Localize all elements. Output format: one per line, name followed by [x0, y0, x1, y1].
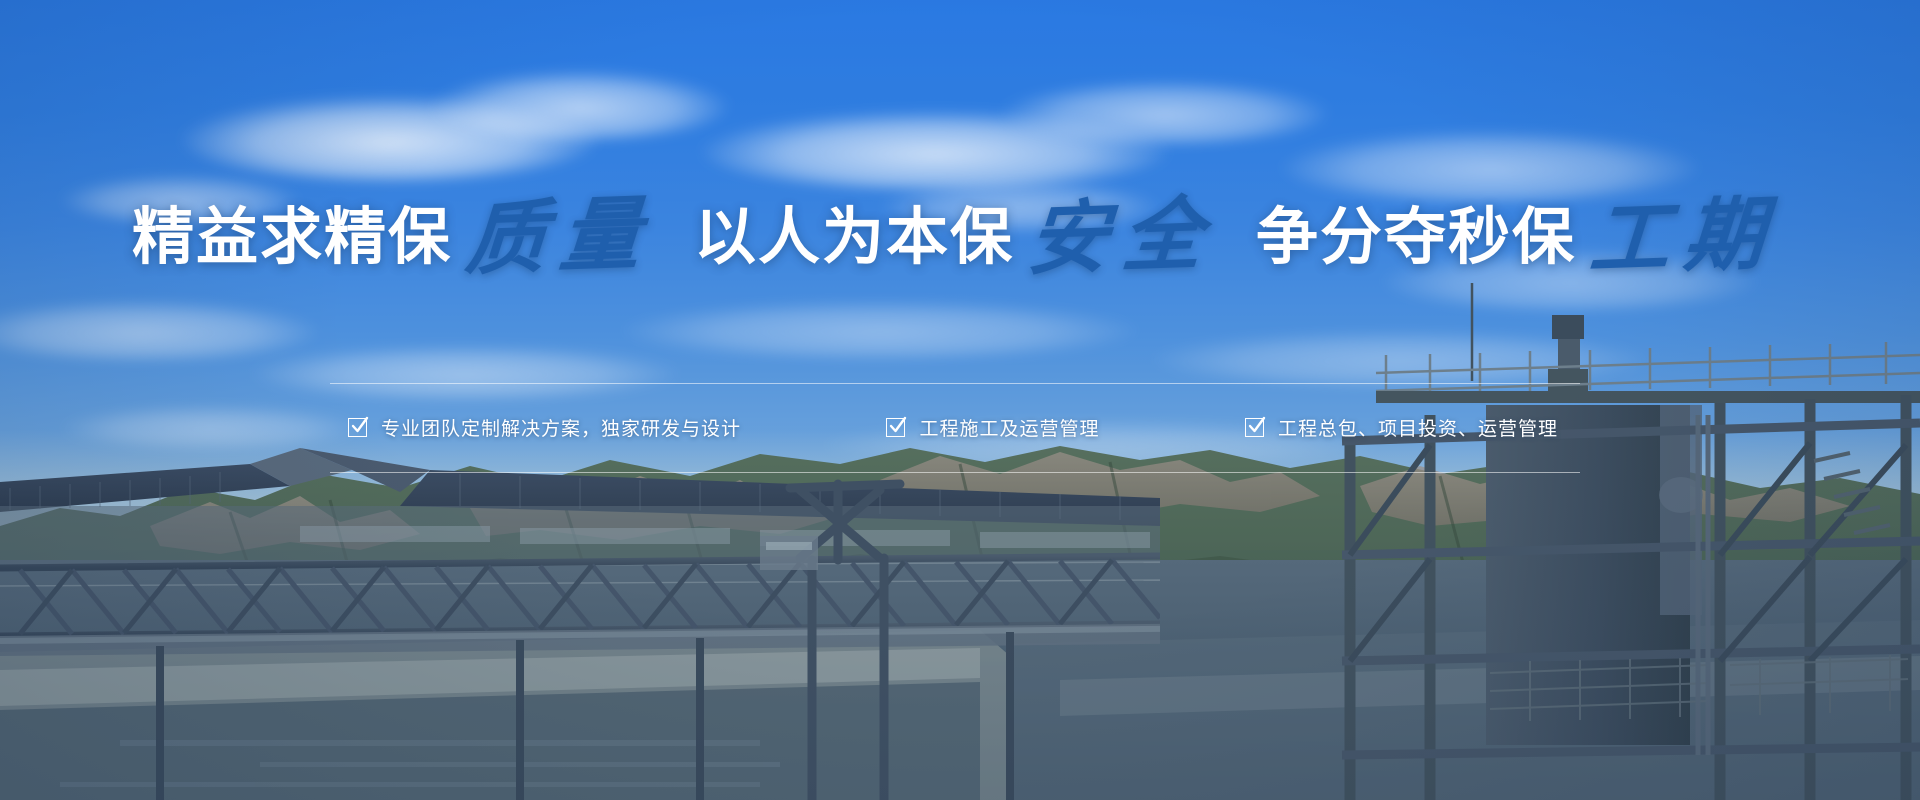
feature-label-3: 工程总包、项目投资、运营管理: [1278, 414, 1558, 441]
feature-label-1: 专业团队定制解决方案，独家研发与设计: [381, 414, 741, 441]
headline-calligraphy-2: 安全: [1025, 195, 1219, 282]
feature-item-3[interactable]: 工程总包、项目投资、运营管理: [1245, 414, 1558, 441]
headline-calligraphy-1: 质量: [463, 195, 657, 282]
feature-item-1[interactable]: 专业团队定制解决方案，独家研发与设计: [348, 414, 741, 441]
divider-bottom: [330, 472, 1580, 473]
headline-plain-3: 争分夺秒保: [1256, 203, 1576, 272]
headline-plain-2: 以人为本保: [694, 203, 1014, 272]
checkbox-checked-icon: [348, 418, 367, 437]
headline-plain-1: 精益求精保: [132, 203, 452, 272]
headline-slogan: 精益求精保质量以人为本保安全争分夺秒保工期: [0, 198, 1920, 278]
hero-banner: 精益求精保质量以人为本保安全争分夺秒保工期 专业团队定制解决方案，独家研发与设计…: [0, 0, 1920, 800]
checkbox-checked-icon: [886, 418, 905, 437]
checkbox-checked-icon: [1245, 418, 1264, 437]
feature-label-2: 工程施工及运营管理: [919, 414, 1099, 441]
feature-list: 专业团队定制解决方案，独家研发与设计 工程施工及运营管理 工程总包、项目投资、运…: [330, 383, 1580, 472]
banner-overlay: 精益求精保质量以人为本保安全争分夺秒保工期 专业团队定制解决方案，独家研发与设计…: [0, 0, 1920, 800]
feature-item-2[interactable]: 工程施工及运营管理: [886, 414, 1099, 441]
headline-calligraphy-3: 工期: [1587, 195, 1781, 282]
